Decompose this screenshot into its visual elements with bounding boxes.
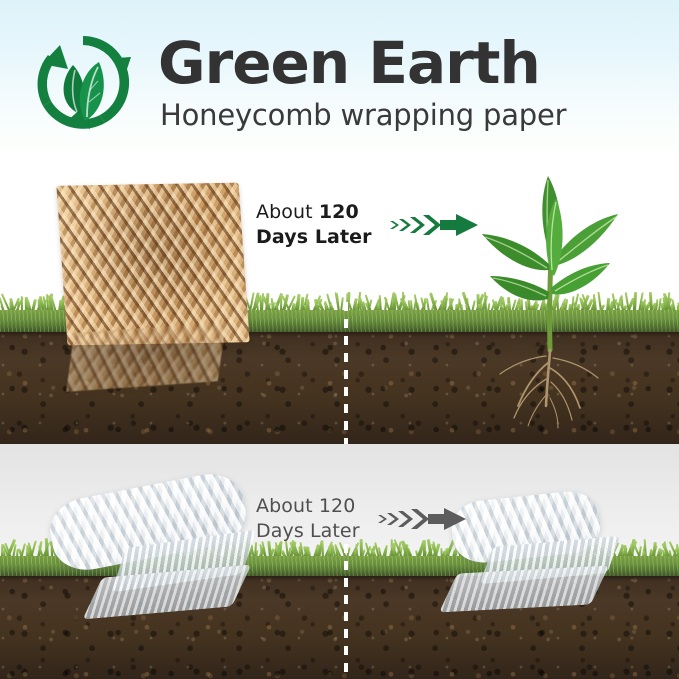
header-content: Green Earth Honeycomb wrapping paper — [22, 16, 662, 138]
product-infographic: Green Earth Honeycomb wrapping paper — [0, 0, 679, 679]
callout-text-lines: About 120 Days Later — [256, 200, 372, 250]
callout-line1-emphasis: 120 — [319, 201, 359, 223]
callout-line1-emphasis: 120 — [319, 495, 356, 517]
brand-text-block: Green Earth Honeycomb wrapping paper — [158, 16, 658, 132]
honeycomb-kraft-paper-sheet — [56, 183, 249, 346]
brand-title: Green Earth — [158, 16, 658, 94]
dashed-vertical-divider-bottom — [344, 544, 348, 679]
callout-line1-prefix: About — [256, 495, 319, 517]
honeycomb-buried-fragment — [66, 322, 226, 391]
dashed-vertical-divider-top — [344, 302, 348, 444]
callout-line1-prefix: About — [256, 201, 319, 223]
brand-header: Green Earth Honeycomb wrapping paper — [0, 0, 679, 152]
brand-subtitle: Honeycomb wrapping paper — [158, 94, 658, 132]
callout-honeycomb: About 120 Days Later — [256, 200, 480, 250]
panel-non-biodegradable-plastic: About 120 Days Later — [0, 444, 679, 679]
callout-text-lines: About 120 Days Later — [256, 494, 360, 544]
panel-biodegradable-honeycomb: About 120 Days Later — [0, 152, 679, 444]
callout-line-1: About 120 — [256, 200, 372, 225]
callout-line-2: Days Later — [256, 225, 372, 250]
gray-right-arrow-icon — [376, 502, 468, 541]
callout-plastic: About 120 Days Later — [256, 494, 468, 544]
recycle-leaves-logo-icon — [27, 28, 139, 136]
green-right-arrow-icon — [388, 208, 480, 247]
callout-line-2: Days Later — [256, 519, 360, 544]
callout-line-1: About 120 — [256, 494, 360, 519]
